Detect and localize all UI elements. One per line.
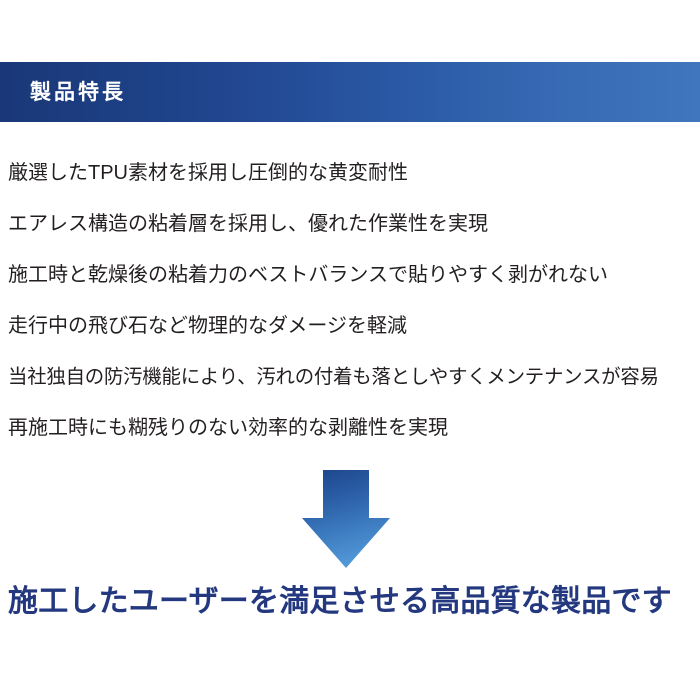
feature-item: 再施工時にも糊残りのない効率的な剥離性を実現 (8, 403, 698, 454)
arrow-down-icon (298, 468, 394, 570)
feature-item: 当社独自の防汚機能により、汚れの付着も落としやすくメンテナンスが容易 (8, 352, 698, 403)
feature-list: 厳選したTPU素材を採用し圧倒的な黄変耐性 エアレス構造の粘着層を採用し、優れた… (8, 148, 698, 454)
feature-item: 施工時と乾燥後の粘着力のベストバランスで貼りやすく剥がれない (8, 250, 698, 301)
section-header-banner: 製品特長 (0, 62, 700, 122)
section-header-title: 製品特長 (30, 82, 126, 103)
conclusion-headline: 施工したユーザーを満足させる高品質な製品です (8, 580, 700, 624)
feature-item: 走行中の飛び石など物理的なダメージを軽減 (8, 301, 698, 352)
feature-item: エアレス構造の粘着層を採用し、優れた作業性を実現 (8, 199, 698, 250)
feature-item: 厳選したTPU素材を採用し圧倒的な黄変耐性 (8, 148, 698, 199)
product-features-page: 製品特長 厳選したTPU素材を採用し圧倒的な黄変耐性 エアレス構造の粘着層を採用… (0, 0, 700, 700)
